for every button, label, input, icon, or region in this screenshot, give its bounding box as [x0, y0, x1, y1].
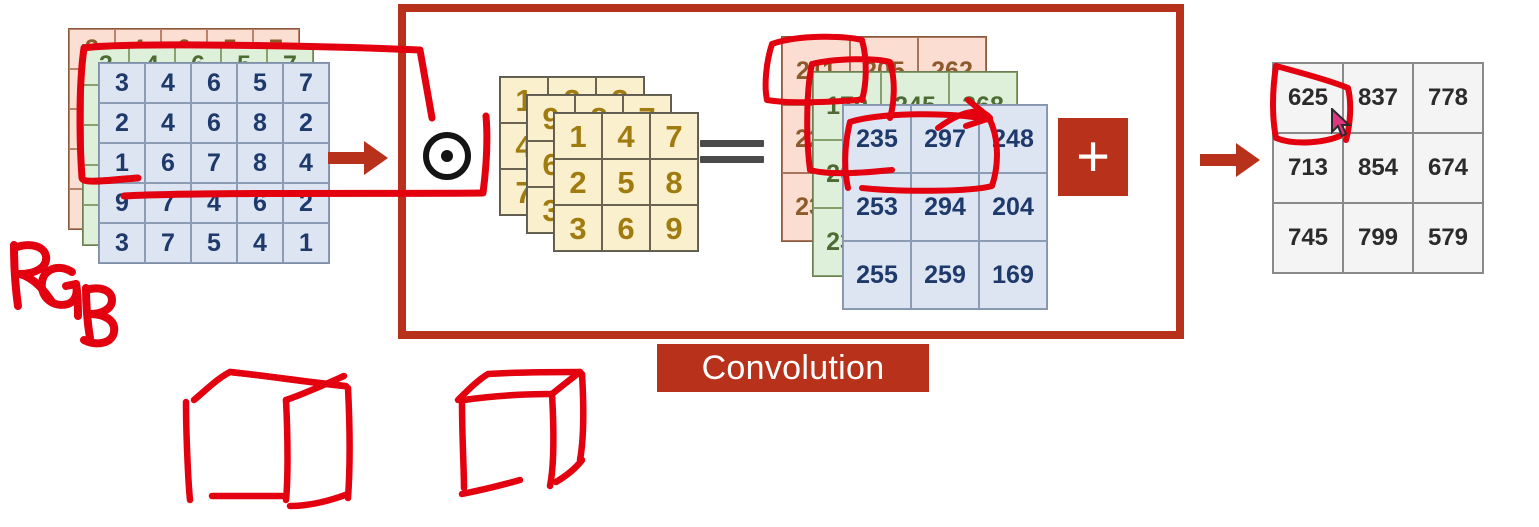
cell: 5	[602, 159, 650, 205]
cell: 4	[191, 183, 237, 223]
cell: 799	[1343, 203, 1413, 273]
input-channel-b: 3 4 6 5 7 2 4 6 8 2 1 6 7 8 4 9 7 4 6 2 …	[98, 62, 330, 264]
cell: 3	[99, 223, 145, 263]
plus-box: +	[1058, 118, 1128, 196]
cell: 8	[237, 143, 283, 183]
cube1-top-back	[194, 372, 344, 400]
cube2-top-edge	[464, 394, 552, 400]
slide-canvas: Convolution 3 4 6 5 7 2 4 6 8 2 1 6 7 8 …	[0, 0, 1539, 527]
cell: 4	[283, 143, 329, 183]
cell: 745	[1273, 203, 1343, 273]
convolution-label: Convolution	[657, 344, 929, 392]
cube2-top-back	[458, 372, 580, 400]
cell: 5	[237, 63, 283, 103]
arrow-right-icon-1	[328, 141, 388, 175]
cell: 2	[99, 103, 145, 143]
cube2-front-left	[462, 404, 464, 488]
output-matrix: 625 837 778 713 854 674 745 799 579	[1272, 62, 1484, 274]
cell: 9	[650, 205, 698, 251]
cell: 259	[911, 241, 979, 309]
cube1-top-edge	[230, 372, 346, 386]
cell: 204	[979, 173, 1047, 241]
cell: 6	[237, 183, 283, 223]
cube2-back-right	[580, 374, 583, 460]
cell: 713	[1273, 133, 1343, 203]
cell: 4	[145, 63, 191, 103]
cube2-bottom-right	[556, 460, 582, 482]
cell: 7	[650, 113, 698, 159]
cube1-diag-top	[286, 376, 344, 400]
cube1-back-right	[348, 388, 350, 498]
cell: 1	[99, 143, 145, 183]
elementwise-multiply-icon	[421, 130, 473, 182]
cell: 8	[650, 159, 698, 205]
cell: 2	[554, 159, 602, 205]
feature-map-b: 235 297 248 253 294 204 255 259 169	[842, 104, 1048, 310]
cell: 4	[145, 103, 191, 143]
rgb-R-stem	[14, 245, 18, 306]
cell: 1	[554, 113, 602, 159]
cube2-diag-top	[552, 372, 580, 394]
rgb-G-tail	[76, 284, 78, 316]
rgb-B-stem	[86, 288, 90, 338]
cell: 579	[1413, 203, 1483, 273]
cell: 235	[843, 105, 911, 173]
cell: 5	[191, 223, 237, 263]
cell: 8	[237, 103, 283, 143]
cell: 3	[554, 205, 602, 251]
cell: 837	[1343, 63, 1413, 133]
cell: 294	[911, 173, 979, 241]
cell: 255	[843, 241, 911, 309]
cell: 778	[1413, 63, 1483, 133]
cell: 1	[283, 223, 329, 263]
cell: 6	[145, 143, 191, 183]
cell: 2	[283, 103, 329, 143]
kernel-channel-front: 1 4 7 2 5 8 3 6 9	[553, 112, 699, 252]
cell: 6	[191, 63, 237, 103]
cell: 2	[283, 183, 329, 223]
cell: 7	[145, 223, 191, 263]
rgb-G-curve	[42, 268, 77, 305]
cell: 297	[911, 105, 979, 173]
cube2-front-bottom	[462, 480, 520, 494]
cell: 7	[145, 183, 191, 223]
cube1-front-right	[286, 400, 288, 500]
cell: 4	[602, 113, 650, 159]
cell: 248	[979, 105, 1047, 173]
mouse-cursor	[1330, 108, 1352, 138]
cell: 169	[979, 241, 1047, 309]
cell: 854	[1343, 133, 1413, 203]
cell: 7	[191, 143, 237, 183]
cell: 4	[237, 223, 283, 263]
cell: 9	[99, 183, 145, 223]
rgb-B-bowls	[84, 288, 114, 343]
cube1-front-left	[186, 402, 190, 500]
equals-sign	[700, 140, 764, 172]
cell: 253	[843, 173, 911, 241]
cell: 7	[283, 63, 329, 103]
rgb-R-bowl	[14, 245, 52, 302]
cell: 674	[1413, 133, 1483, 203]
cell: 6	[191, 103, 237, 143]
cube1-bottom-right	[290, 494, 348, 506]
cell: 6	[602, 205, 650, 251]
cell: 3	[99, 63, 145, 103]
cube2-front-right	[550, 394, 553, 486]
arrow-right-icon-2	[1200, 143, 1260, 177]
